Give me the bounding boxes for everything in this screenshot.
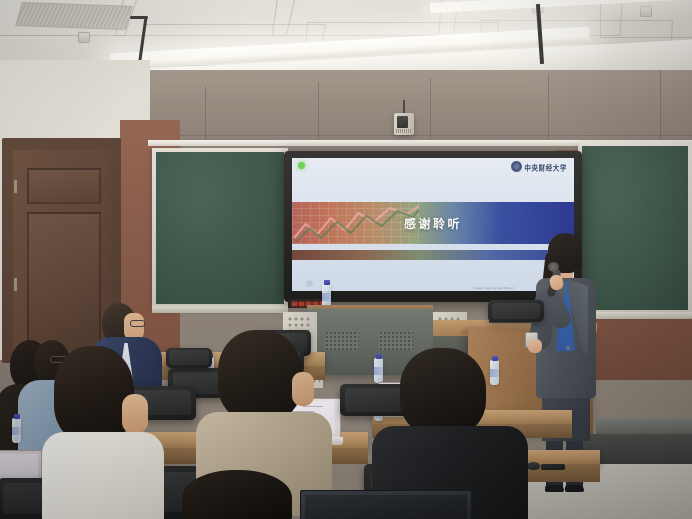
- university-name-cn: 中央财经大学: [524, 161, 567, 173]
- power-indicator-icon: [298, 162, 305, 169]
- blackboard-left: [152, 148, 288, 308]
- smartphone[interactable]: [541, 464, 565, 470]
- presenter-shoe: [545, 485, 564, 492]
- student-head: [218, 330, 302, 422]
- foreground-laptop[interactable]: [300, 490, 470, 519]
- lecture-hall-photo: 中央财经大学 感谢聆听 Smart Interactive Panel: [0, 0, 692, 519]
- speaker-face-icon: [397, 116, 408, 128]
- student-hand: [122, 394, 148, 434]
- slide-decorative-dot: [306, 280, 313, 287]
- blazer-button: [566, 346, 570, 350]
- speaker-mount-stem: [403, 100, 405, 114]
- ceiling-vent: [15, 2, 133, 30]
- slide-headline: 感谢聆听: [404, 215, 462, 232]
- ceiling-mounted-speaker: [394, 113, 414, 135]
- chair[interactable]: [488, 300, 544, 322]
- microphone-head-icon: [548, 262, 559, 272]
- university-logo: 中央财经大学: [511, 161, 567, 172]
- ceiling-speaker-icon: [640, 6, 652, 17]
- ceiling-speaker-icon: [78, 32, 90, 43]
- student-head: [400, 348, 486, 436]
- seal-icon: [511, 161, 522, 172]
- student-head: [182, 470, 292, 519]
- student-ear: [292, 372, 314, 406]
- student-torso: [42, 432, 164, 519]
- presenter-shoe: [565, 485, 584, 492]
- projector-mount-plate: [130, 16, 148, 19]
- glasses-icon: [130, 320, 145, 327]
- student-head: [54, 346, 134, 442]
- display-brand-label: Smart Interactive Panel: [474, 286, 514, 290]
- speaker-grille-icon: [396, 129, 411, 133]
- student-foreground-head: [182, 470, 292, 519]
- water-bottle[interactable]: [12, 418, 21, 443]
- student-front-white-tshirt: [42, 346, 172, 519]
- chalk-tray: [152, 306, 288, 313]
